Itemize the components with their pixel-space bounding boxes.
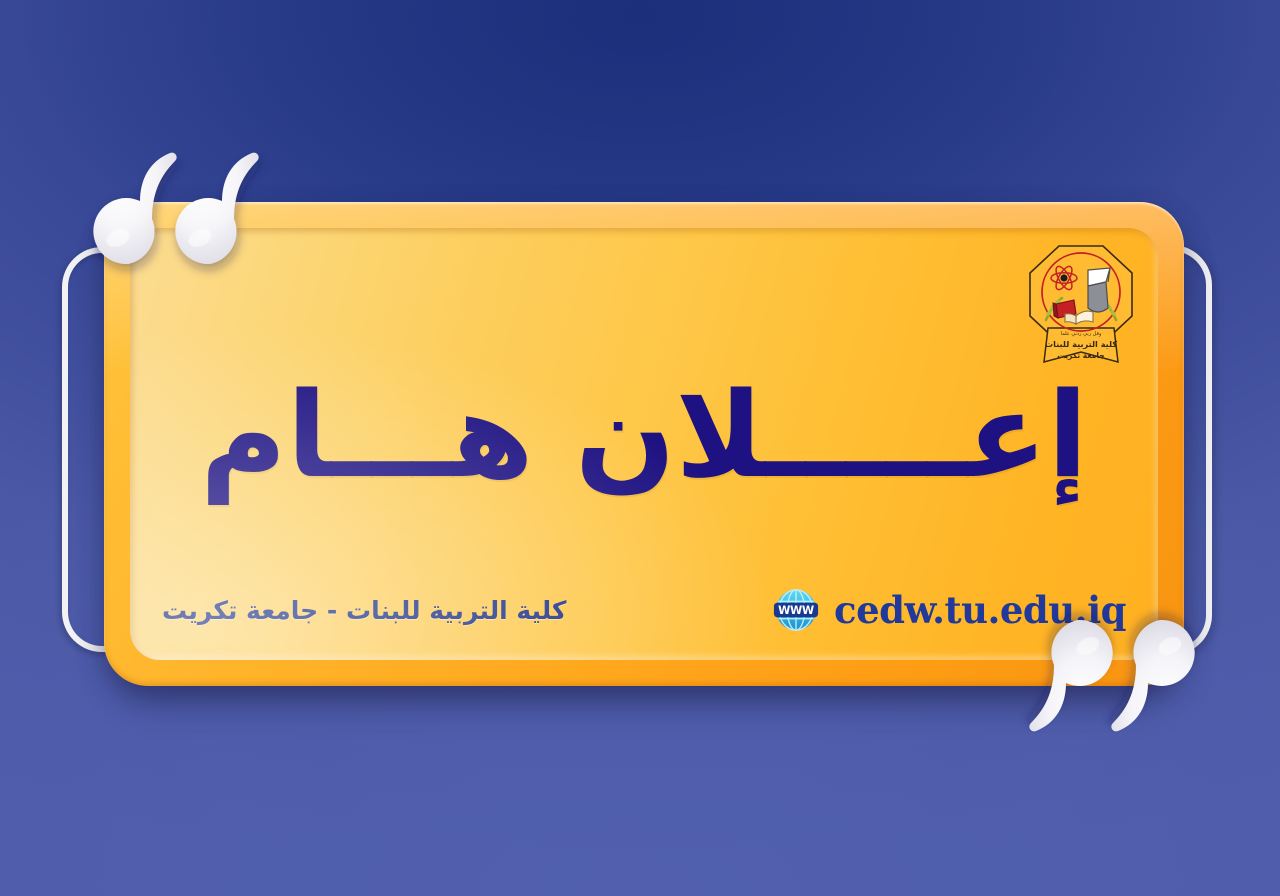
card-footer: كلية التربية للبنات - جامعة تكريت <box>162 586 1126 634</box>
quote-open-glyphs <box>93 153 258 264</box>
quote-close-glyphs <box>1029 620 1194 731</box>
card-inner-panel: وقل ربي زدني علما كلية التربية للبنات جا… <box>130 228 1158 660</box>
closing-quote-marks <box>1010 588 1200 738</box>
institution-name: كلية التربية للبنات - جامعة تكريت <box>162 596 566 625</box>
graduation-cap-icon <box>1088 268 1110 312</box>
page-title: إعـــــلان هـــام <box>130 376 1158 494</box>
globe-www-label: WWW <box>778 604 814 617</box>
university-logo: وقل ربي زدني علما كلية التربية للبنات جا… <box>1026 242 1136 372</box>
globe-www-icon: WWW <box>772 586 820 634</box>
logo-motto: وقل ربي زدني علما <box>1061 331 1102 337</box>
logo-line2: جامعة تكريت <box>1057 351 1104 360</box>
opening-quote-marks <box>88 146 278 296</box>
announcement-banner: وقل ربي زدني علما كلية التربية للبنات جا… <box>0 0 1280 896</box>
logo-line1: كلية التربية للبنات <box>1045 339 1117 350</box>
